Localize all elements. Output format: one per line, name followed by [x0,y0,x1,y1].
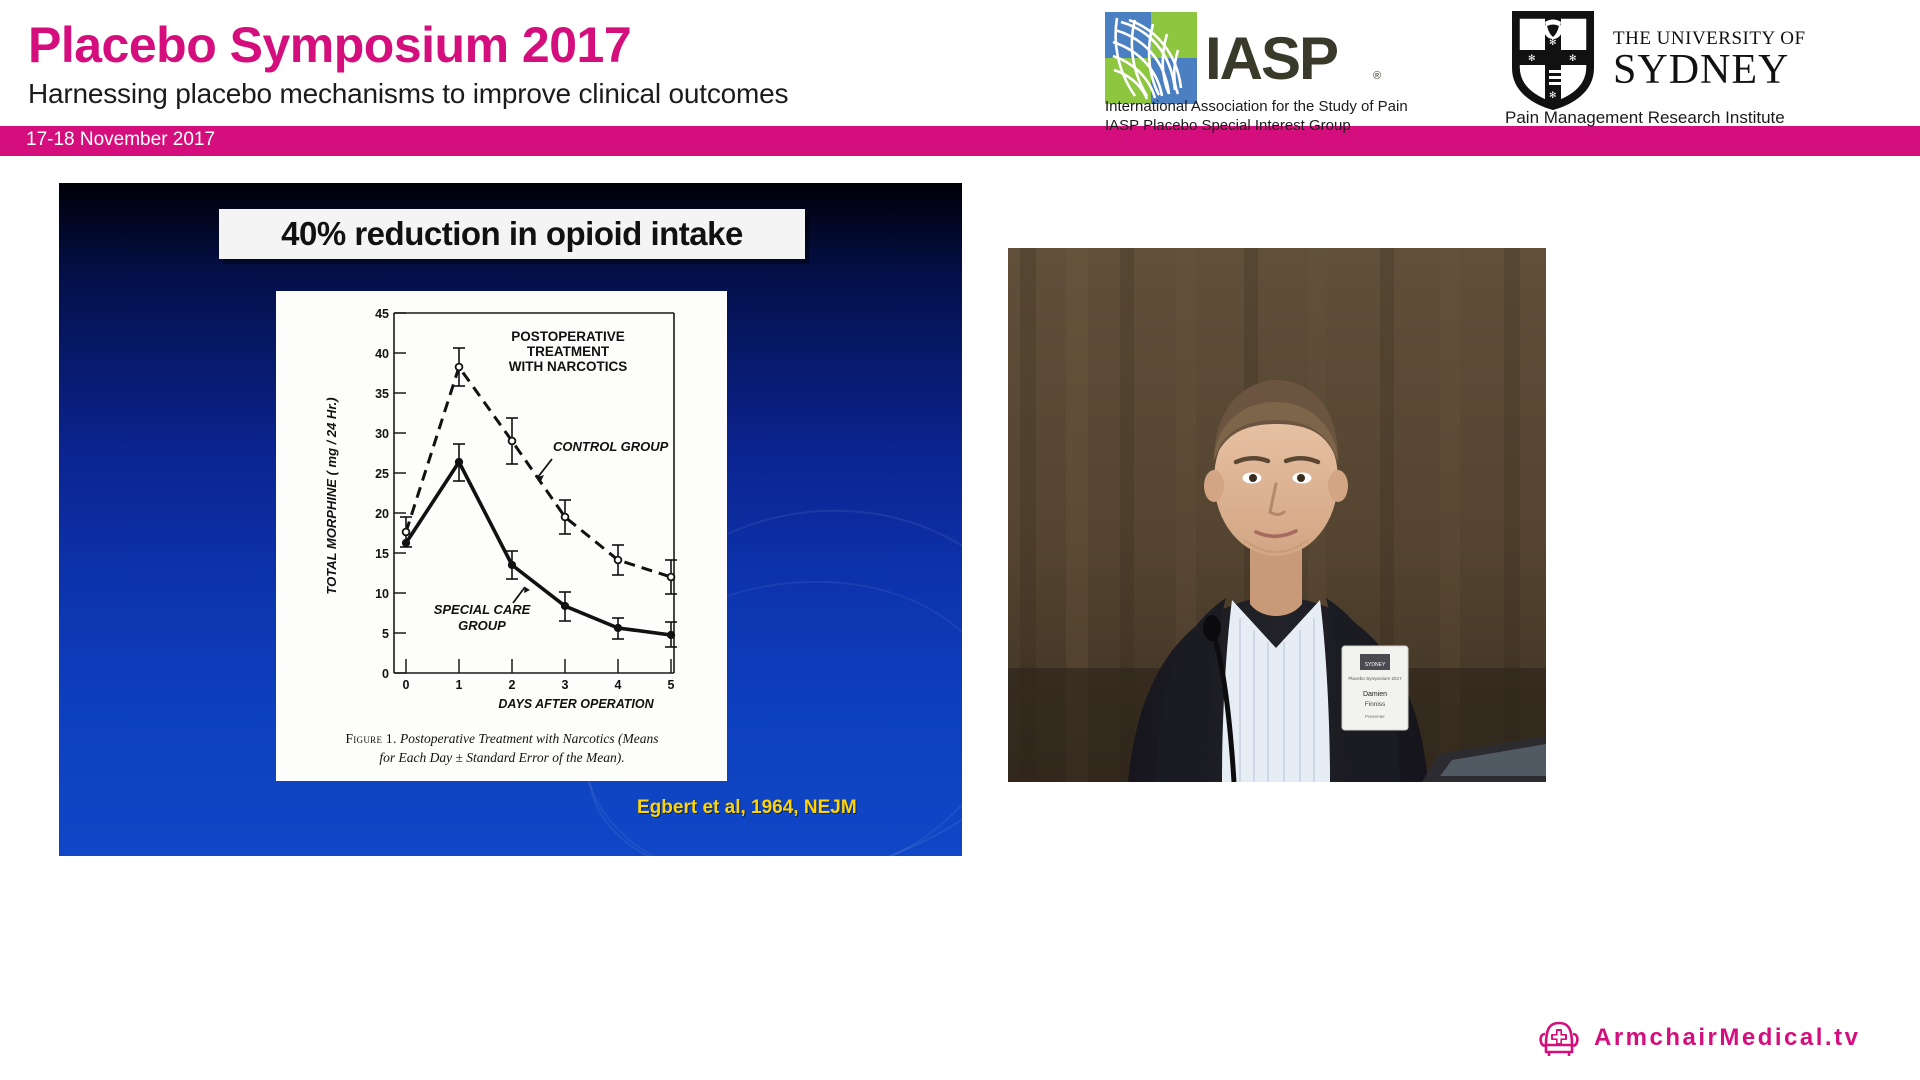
svg-text:POSTOPERATIVE: POSTOPERATIVE [511,329,625,344]
svg-text:Placebo Symposium 2017: Placebo Symposium 2017 [1348,676,1402,681]
svg-text:✻: ✻ [1549,37,1557,47]
armchair-cross-icon [1538,1018,1580,1058]
page-header: Placebo Symposium 2017 Harnessing placeb… [0,0,1920,160]
university-of-sydney-logo: ✻ ✻ ✻ ✻ THE UNIVERSITY OF SYDNEY Pain Ma… [1495,8,1905,123]
svg-text:15: 15 [375,547,389,561]
svg-text:WITH NARCOTICS: WITH NARCOTICS [509,359,628,374]
slide-headline-banner: 40% reduction in opioid intake [219,209,805,259]
date-bar [0,126,1920,156]
svg-text:✻: ✻ [1549,90,1557,100]
iasp-wordmark: IASP [1205,24,1337,93]
svg-text:DAYS AFTER OPERATION: DAYS AFTER OPERATION [498,697,654,711]
iasp-globe-icon [1105,12,1197,104]
svg-text:20: 20 [375,507,389,521]
iasp-logo: IASP ® International Association for the… [1105,12,1440,122]
slide-headline-text: 40% reduction in opioid intake [219,209,805,259]
svg-text:10: 10 [375,587,389,601]
svg-text:0: 0 [382,667,389,681]
svg-text:5: 5 [668,678,675,692]
svg-text:35: 35 [375,387,389,401]
svg-text:CONTROL GROUP: CONTROL GROUP [553,439,669,454]
iasp-tagline-2: IASP Placebo Special Interest Group [1105,117,1351,134]
svg-text:30: 30 [375,427,389,441]
iasp-tagline-1: International Association for the Study … [1105,98,1408,115]
svg-text:SYDNEY: SYDNEY [1365,662,1386,668]
svg-text:GROUP: GROUP [458,618,506,633]
armchair-medical-brand[interactable]: ArmchairMedical.tv [1538,1016,1898,1062]
svg-text:40: 40 [375,347,389,361]
pain-management-research-institute-label: Pain Management Research Institute [1505,108,1785,128]
figure-caption-line-1: Postoperative Treatment with Narcotics (… [400,731,658,746]
svg-text:TOTAL MORPHINE ( mg / 24 Hr.): TOTAL MORPHINE ( mg / 24 Hr.) [324,397,339,594]
morphine-intake-line-chart: 45 40 35 30 25 20 15 10 5 0 0 [276,291,727,731]
svg-text:Presenter: Presenter [1365,714,1385,719]
svg-text:TREATMENT: TREATMENT [527,344,610,359]
svg-text:4: 4 [615,678,622,692]
speaker-image: SYDNEY Placebo Symposium 2017 Damien Fin… [1008,248,1546,782]
figure-card: 45 40 35 30 25 20 15 10 5 0 0 [276,291,727,781]
iasp-registered-mark: ® [1373,70,1381,82]
svg-text:2: 2 [509,678,516,692]
speaker-video-panel[interactable]: SYDNEY Placebo Symposium 2017 Damien Fin… [1008,248,1546,782]
figure-caption-line-2: for Each Day ± Standard Error of the Mea… [379,750,624,765]
presentation-slide[interactable]: 40% reduction in opioid intake [59,183,962,856]
svg-text:5: 5 [382,627,389,641]
svg-text:0: 0 [403,678,410,692]
svg-text:Damien: Damien [1363,691,1387,698]
svg-text:25: 25 [375,467,389,481]
svg-text:Finniss: Finniss [1365,701,1386,708]
sydney-line-2: SYDNEY [1613,46,1789,94]
conference-title: Placebo Symposium 2017 [28,16,631,74]
brand-label: ArmchairMedical.tv [1594,1024,1860,1052]
sydney-shield-icon: ✻ ✻ ✻ ✻ [1509,8,1597,112]
svg-text:45: 45 [375,307,389,321]
svg-text:✻: ✻ [1528,53,1536,63]
svg-text:SPECIAL CARE: SPECIAL CARE [434,602,531,617]
figure-caption-number: Figure 1. [345,731,396,746]
svg-text:1: 1 [456,678,463,692]
slide-citation: Egbert et al, 1964, NEJM [637,797,857,819]
conference-subtitle: Harnessing placebo mechanisms to improve… [28,78,788,110]
figure-caption: Figure 1. Postoperative Treatment with N… [290,729,714,767]
conference-dates: 17-18 November 2017 [26,129,215,151]
svg-text:✻: ✻ [1569,53,1577,63]
svg-text:3: 3 [562,678,569,692]
